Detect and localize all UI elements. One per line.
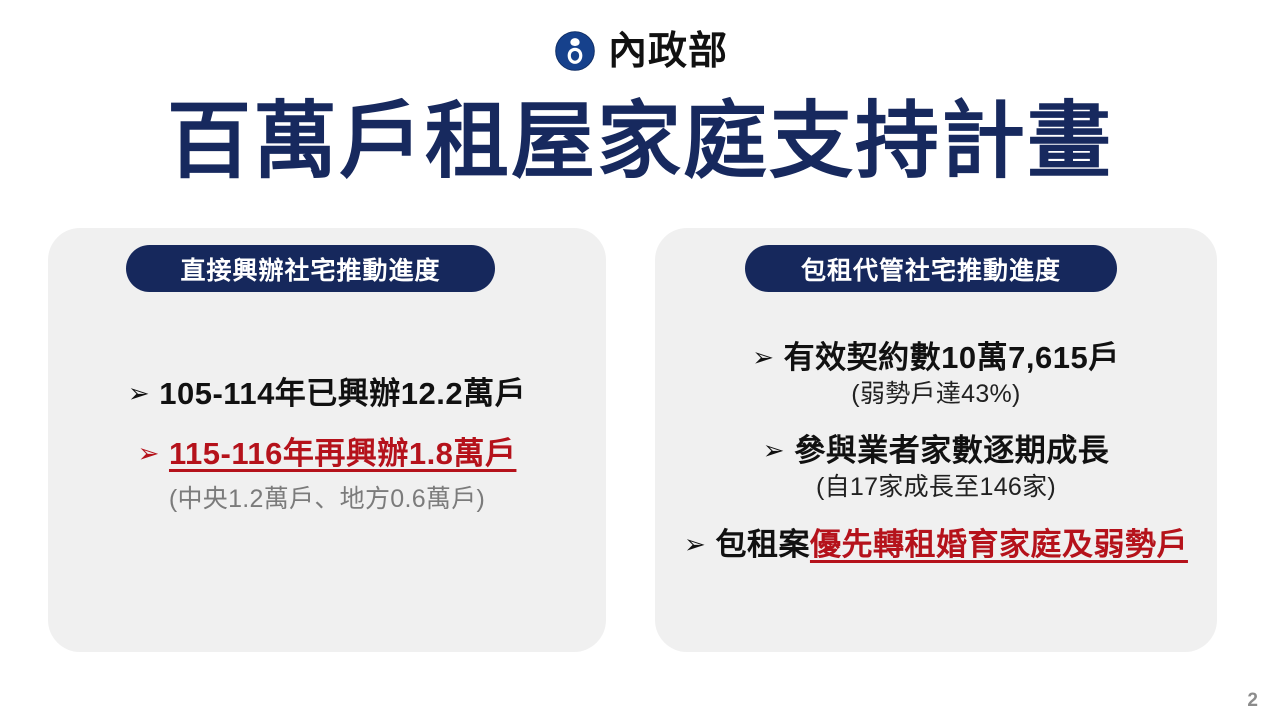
right-panel-heading-pill: 包租代管社宅推動進度 [745, 245, 1117, 292]
list-item-subtext: (自17家成長至146家) [660, 471, 1212, 505]
list-item-text: 115-116年再興辦1.8萬戶 [169, 436, 516, 471]
ministry-of-interior-emblem-icon [552, 28, 598, 74]
ministry-logo-text: 內政部 [608, 32, 728, 71]
list-item: ➢ 有效契約數10萬7,615戶 [660, 338, 1212, 378]
list-item-text: 參與業者家數逐期成長 [794, 433, 1109, 468]
bullet-arrow-icon: ➢ [138, 437, 160, 470]
list-item-highlight-text: 優先轉租婚育家庭及弱勢戶 [810, 527, 1188, 562]
list-item-text: 有效契約數10萬7,615戶 [784, 340, 1120, 375]
list-item: ➢ 參與業者家數逐期成長 [660, 431, 1212, 471]
list-item: ➢ 115-116年再興辦1.8萬戶 [60, 434, 594, 474]
left-panel-heading-pill: 直接興辦社宅推動進度 [126, 245, 495, 292]
list-item-text: 包租案 [715, 527, 810, 562]
right-panel-bullet-list: ➢ 有效契約數10萬7,615戶 (弱勢戶達43%) ➢ 參與業者家數逐期成長 … [660, 338, 1212, 565]
page-number: 2 [1247, 690, 1258, 712]
list-item-subtext: (中央1.2萬戶、地方0.6萬戶) [60, 483, 594, 517]
left-panel-bullet-list: ➢ 105-114年已興辦12.2萬戶 ➢ 115-116年再興辦1.8萬戶 (… [60, 374, 594, 517]
slide-canvas: 內政部 百萬戶租屋家庭支持計畫 直接興辦社宅推動進度 ➢ 105-114年已興辦… [0, 0, 1280, 720]
ministry-logo: 內政部 [0, 22, 1280, 80]
bullet-arrow-icon: ➢ [752, 341, 774, 374]
list-item-subtext: (弱勢戶達43%) [660, 378, 1212, 412]
list-item: ➢ 105-114年已興辦12.2萬戶 [60, 374, 594, 414]
list-item: ➢ 包租案優先轉租婚育家庭及弱勢戶 [660, 525, 1212, 565]
bullet-arrow-icon: ➢ [684, 528, 706, 561]
list-item-text: 105-114年已興辦12.2萬戶 [159, 376, 526, 411]
bullet-arrow-icon: ➢ [128, 377, 150, 410]
page-title: 百萬戶租屋家庭支持計畫 [0, 94, 1280, 188]
bullet-arrow-icon: ➢ [763, 434, 785, 467]
